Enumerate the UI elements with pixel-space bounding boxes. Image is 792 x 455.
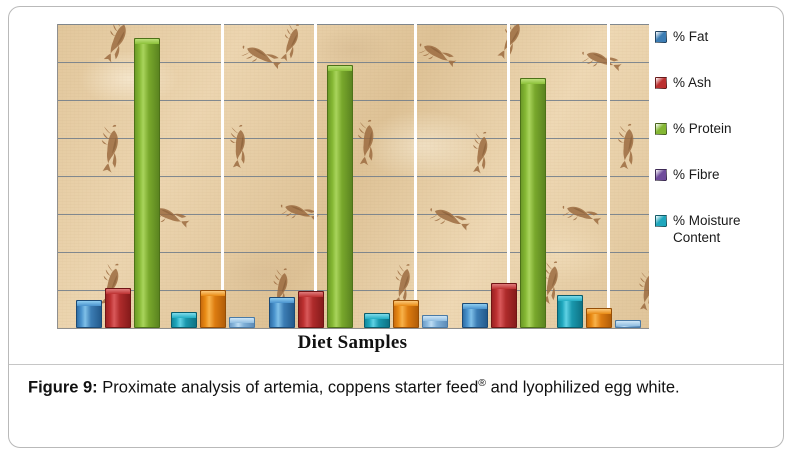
- bar-top-cap: [463, 304, 487, 309]
- bar-protein: [134, 38, 160, 328]
- bar-accent-lightblue: [422, 315, 448, 328]
- bar-top-cap: [365, 314, 389, 319]
- legend-swatch-icon: [655, 77, 667, 89]
- legend-swatch-icon: [655, 31, 667, 43]
- bar-accent-lightblue: [615, 320, 641, 328]
- bar-fat: [462, 303, 488, 328]
- x-axis-title: Diet Samples: [57, 332, 648, 354]
- divider-c: [414, 24, 417, 328]
- bar-accent-lightblue: [229, 317, 255, 328]
- chart-legend: % Fat% Ash% Protein% Fibre% Moisture Con…: [655, 28, 775, 275]
- bar-top-cap: [201, 291, 225, 296]
- bar-top-cap: [328, 66, 352, 71]
- legend-swatch-icon: [655, 169, 667, 181]
- caption-text-part1: Proximate analysis of artemia, coppens s…: [98, 379, 479, 397]
- caption-text-part2: and lyophilized egg white.: [486, 379, 680, 397]
- bar-ash: [105, 288, 131, 328]
- bar-top-cap: [558, 296, 582, 301]
- bar-accent-orange: [393, 300, 419, 328]
- bar-top-cap: [492, 284, 516, 289]
- bar-top-cap: [299, 292, 323, 297]
- bar-top-cap: [587, 309, 611, 314]
- legend-label: % Fibre: [673, 166, 720, 183]
- bar-protein: [520, 78, 546, 328]
- bar-ash: [298, 291, 324, 328]
- caption-divider: [9, 364, 783, 365]
- bar-accent-orange: [586, 308, 612, 328]
- figure-caption: Figure 9: Proximate analysis of artemia,…: [28, 372, 768, 400]
- bar-top-cap: [270, 298, 294, 303]
- bar-moisture: [364, 313, 390, 328]
- bar-protein: [327, 65, 353, 328]
- bar-accent-orange: [200, 290, 226, 328]
- bar-top-cap: [172, 313, 196, 318]
- bar-top-cap: [616, 321, 640, 326]
- legend-swatch-icon: [655, 215, 667, 227]
- legend-label: % Protein: [673, 120, 732, 137]
- bar-moisture: [557, 295, 583, 328]
- legend-item-fibre[interactable]: % Fibre: [655, 166, 775, 183]
- bar-ash: [491, 283, 517, 328]
- legend-item-moisture-content[interactable]: % Moisture Content: [655, 212, 775, 246]
- legend-label: % Ash: [673, 74, 711, 91]
- bar-top-cap: [106, 289, 130, 294]
- divider-e: [607, 24, 610, 328]
- bar-moisture: [171, 312, 197, 328]
- legend-swatch-icon: [655, 123, 667, 135]
- bar-top-cap: [521, 79, 545, 84]
- legend-item-ash[interactable]: % Ash: [655, 74, 775, 91]
- figure-card: Proximate Values Diet Samples % Fat% Ash…: [0, 0, 792, 455]
- bar-top-cap: [77, 301, 101, 306]
- bar-top-cap: [423, 316, 447, 321]
- legend-label: % Fat: [673, 28, 708, 45]
- bar-top-cap: [135, 39, 159, 44]
- bar-top-cap: [230, 318, 254, 323]
- legend-item-protein[interactable]: % Protein: [655, 120, 775, 137]
- plot-area: [57, 24, 649, 329]
- figure-number-label: Figure 9:: [28, 379, 98, 397]
- legend-item-fat[interactable]: % Fat: [655, 28, 775, 45]
- chart-container: Proximate Values Diet Samples: [18, 14, 760, 362]
- bar-fat: [76, 300, 102, 328]
- bar-fat: [269, 297, 295, 328]
- divider-b: [314, 24, 317, 328]
- gridline: [58, 24, 649, 25]
- divider-a: [221, 24, 224, 328]
- registered-trademark-symbol: ®: [478, 377, 486, 389]
- legend-label: % Moisture Content: [673, 212, 775, 246]
- bar-top-cap: [394, 301, 418, 306]
